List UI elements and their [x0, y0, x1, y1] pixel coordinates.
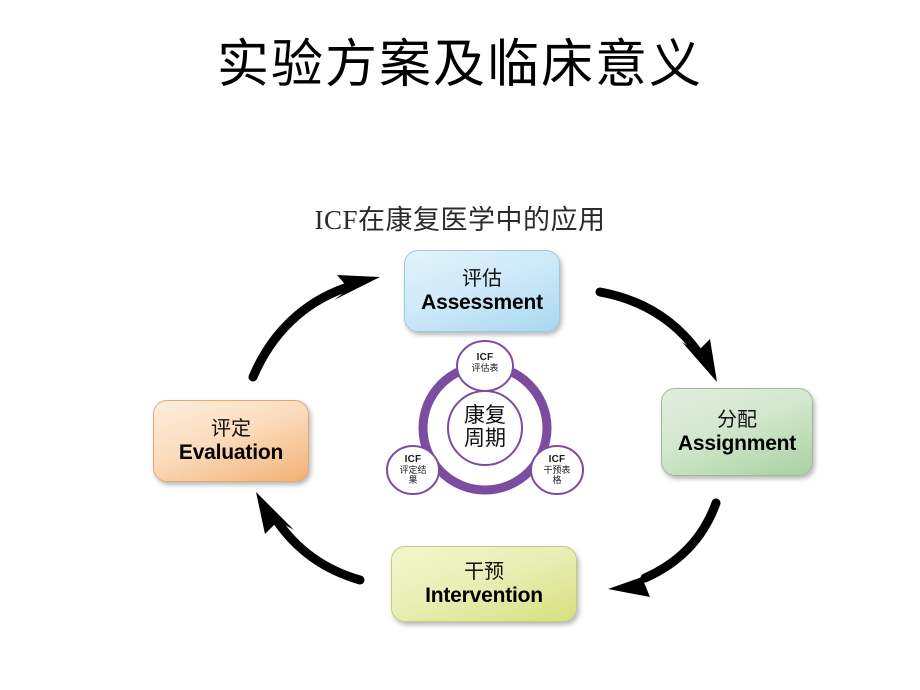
arrow-intervention-to-evaluation [256, 492, 360, 580]
wheel-hub-line1: 康复 [447, 404, 523, 427]
phase-box-intervention[interactable]: 干预 Intervention [391, 546, 577, 622]
rehabilitation-cycle-diagram: 评估 Assessment 分配 Assignment 干预 Intervent… [0, 0, 920, 690]
phase-label-en-evaluation: Evaluation [179, 441, 283, 465]
arrow-assignment-to-intervention [608, 503, 716, 597]
phase-box-assignment[interactable]: 分配 Assignment [661, 388, 813, 476]
wheel-node-sub-line2: 格 [531, 476, 583, 486]
phase-label-cn-assessment: 评估 [462, 268, 502, 291]
wheel-hub-line2: 周期 [447, 427, 523, 450]
wheel-node-sub-line1: 评估表 [459, 364, 511, 374]
phase-box-assessment[interactable]: 评估 Assessment [404, 250, 560, 332]
phase-label-en-assessment: Assessment [416, 291, 548, 315]
arrow-evaluation-to-assessment [253, 275, 380, 377]
wheel-node-evaluation-result[interactable]: ICF 评定结 果 [387, 455, 439, 485]
wheel-node-sub-line2: 果 [387, 476, 439, 486]
phase-label-en-intervention: Intervention [425, 584, 543, 608]
phase-label-cn-intervention: 干预 [464, 561, 504, 584]
arrow-assessment-to-assignment [600, 292, 717, 382]
wheel-node-intervention-form[interactable]: ICF 干预表 格 [531, 455, 583, 485]
phase-label-cn-evaluation: 评定 [211, 418, 251, 441]
icf-wheel: ICF 评估表 ICF 评定结 果 ICF 干预表 格 康复 周期 [385, 336, 585, 516]
wheel-hub-label: 康复 周期 [447, 404, 523, 449]
wheel-node-assessment-form[interactable]: ICF 评估表 [459, 353, 511, 374]
phase-label-en-assignment: Assignment [673, 432, 801, 456]
phase-box-evaluation[interactable]: 评定 Evaluation [153, 400, 309, 482]
phase-label-cn-assignment: 分配 [717, 409, 757, 432]
